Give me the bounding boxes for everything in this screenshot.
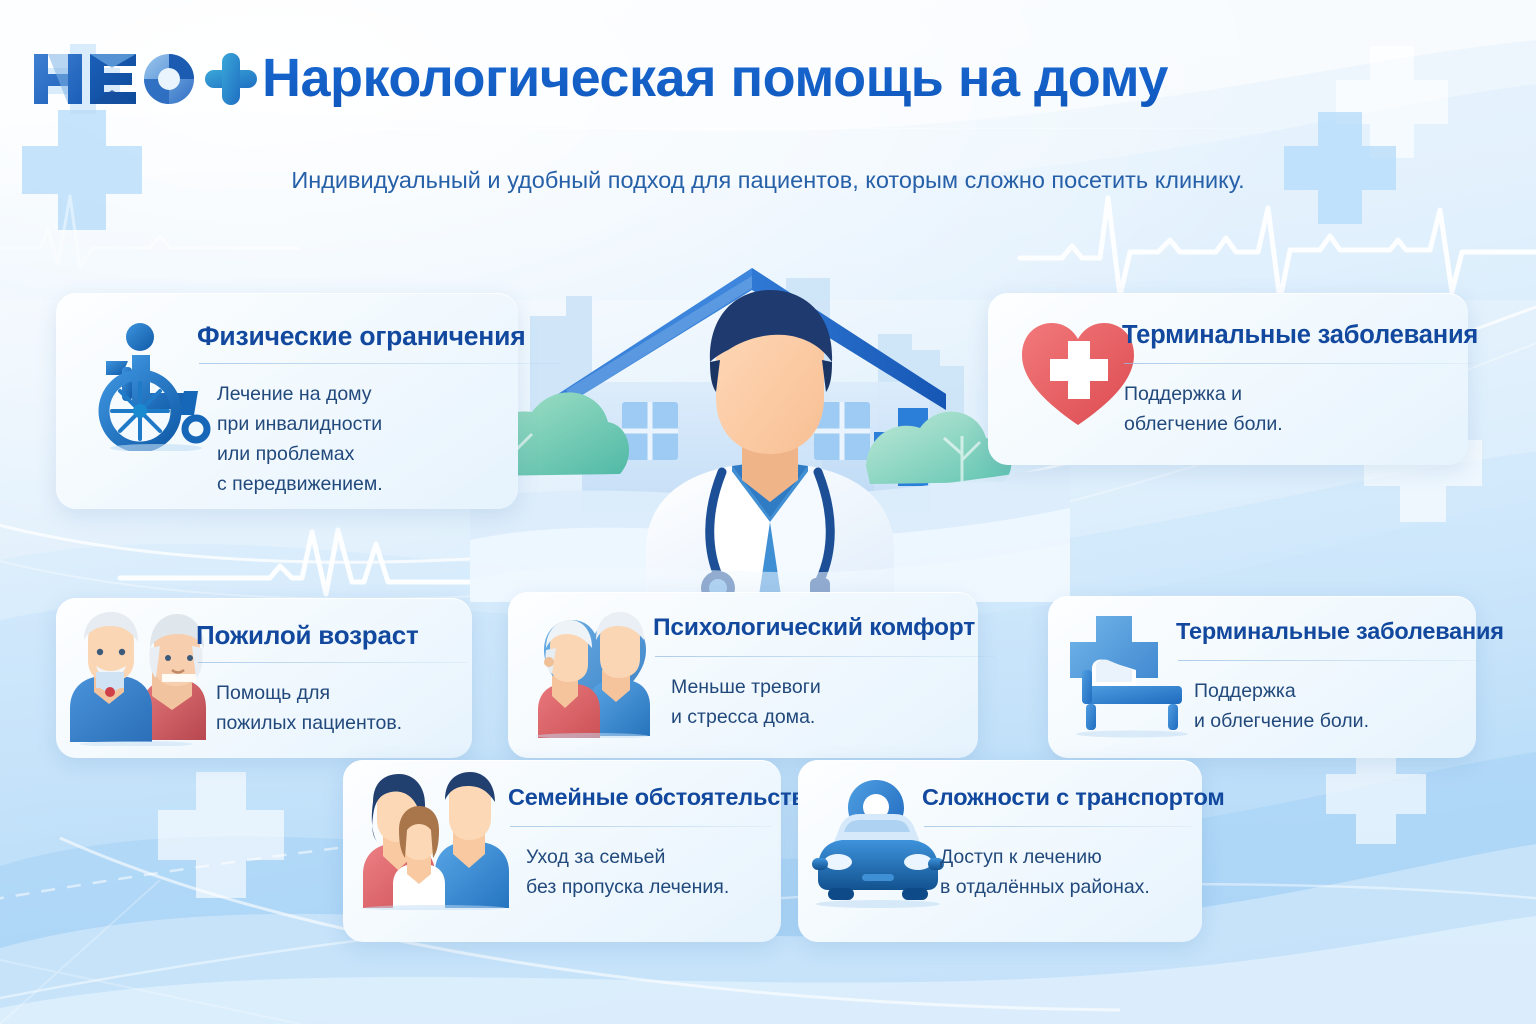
card-body: Поддержка и облегчение боли. [1194, 676, 1369, 736]
card-body: Поддержка и облегчение боли. [1124, 379, 1283, 439]
card-body: Помощь для пожилых пациентов. [216, 678, 402, 738]
logo-letter-n [34, 54, 82, 104]
card-title: Семейные обстоятельства [508, 784, 818, 811]
brand-logo[interactable] [28, 44, 260, 114]
card-terminal-illness-bed[interactable]: Терминальные заболевания Поддержка и обл… [1048, 596, 1476, 758]
card-divider [510, 826, 772, 827]
card-title: Психологический комфорт [653, 614, 975, 642]
card-title: Физические ограничения [197, 321, 525, 352]
family-group-icon [361, 772, 511, 910]
page-title: Наркологическая помощь на дому [262, 47, 1168, 109]
two-people-heart-icon [530, 606, 660, 738]
logo-letter-e [90, 54, 136, 104]
logo-plus-icon [205, 53, 257, 105]
doctor-house-illustration [470, 250, 1070, 602]
card-family-circumstances[interactable]: Семейные обстоятельства Уход за семьей б… [343, 760, 781, 942]
father [435, 772, 509, 908]
card-divider [655, 656, 995, 657]
card-divider [924, 826, 1192, 827]
card-divider [1124, 363, 1472, 364]
card-title: Пожилой возраст [196, 620, 419, 651]
card-terminal-illness-heart[interactable]: Терминальные заболевания Поддержка и обл… [988, 293, 1468, 465]
card-body: Доступ к лечению в отдалённых районах. [940, 842, 1150, 902]
card-physical-limitations[interactable]: Физические ограничения Лечение на дому п… [56, 293, 518, 509]
page-subtitle: Индивидуальный и удобный подход для паци… [268, 162, 1268, 199]
elderly-man [70, 612, 152, 742]
header: Наркологическая помощь на дому Индивидуа… [0, 0, 1536, 240]
logo-letter-o [144, 54, 194, 104]
card-divider [1178, 660, 1478, 661]
card-title: Терминальные заболевания [1122, 321, 1478, 350]
card-body: Меньше тревоги и стресса дома. [671, 672, 821, 732]
heart-with-cross-icon [1018, 315, 1138, 435]
infographic-canvas: Наркологическая помощь на дому Индивидуа… [0, 0, 1536, 1024]
card-title: Терминальные заболевания [1176, 618, 1504, 645]
card-body: Уход за семьей без пропуска лечения. [526, 842, 729, 902]
elderly-couple-icon [66, 612, 206, 746]
title-divider [265, 128, 1265, 129]
card-divider [199, 363, 561, 364]
card-psychological-comfort[interactable]: Психологический комфорт Меньше тревоги и… [508, 592, 978, 758]
card-body: Лечение на дому при инвалидности или про… [217, 379, 383, 499]
card-elderly-age[interactable]: Пожилой возраст Помощь для пожилых пацие… [56, 598, 472, 758]
card-divider [198, 662, 468, 663]
card-title: Сложности с транспортом [922, 784, 1225, 811]
bed [1082, 659, 1182, 730]
card-transport-difficulties[interactable]: Сложности с транспортом Доступ к лечению… [798, 760, 1202, 942]
